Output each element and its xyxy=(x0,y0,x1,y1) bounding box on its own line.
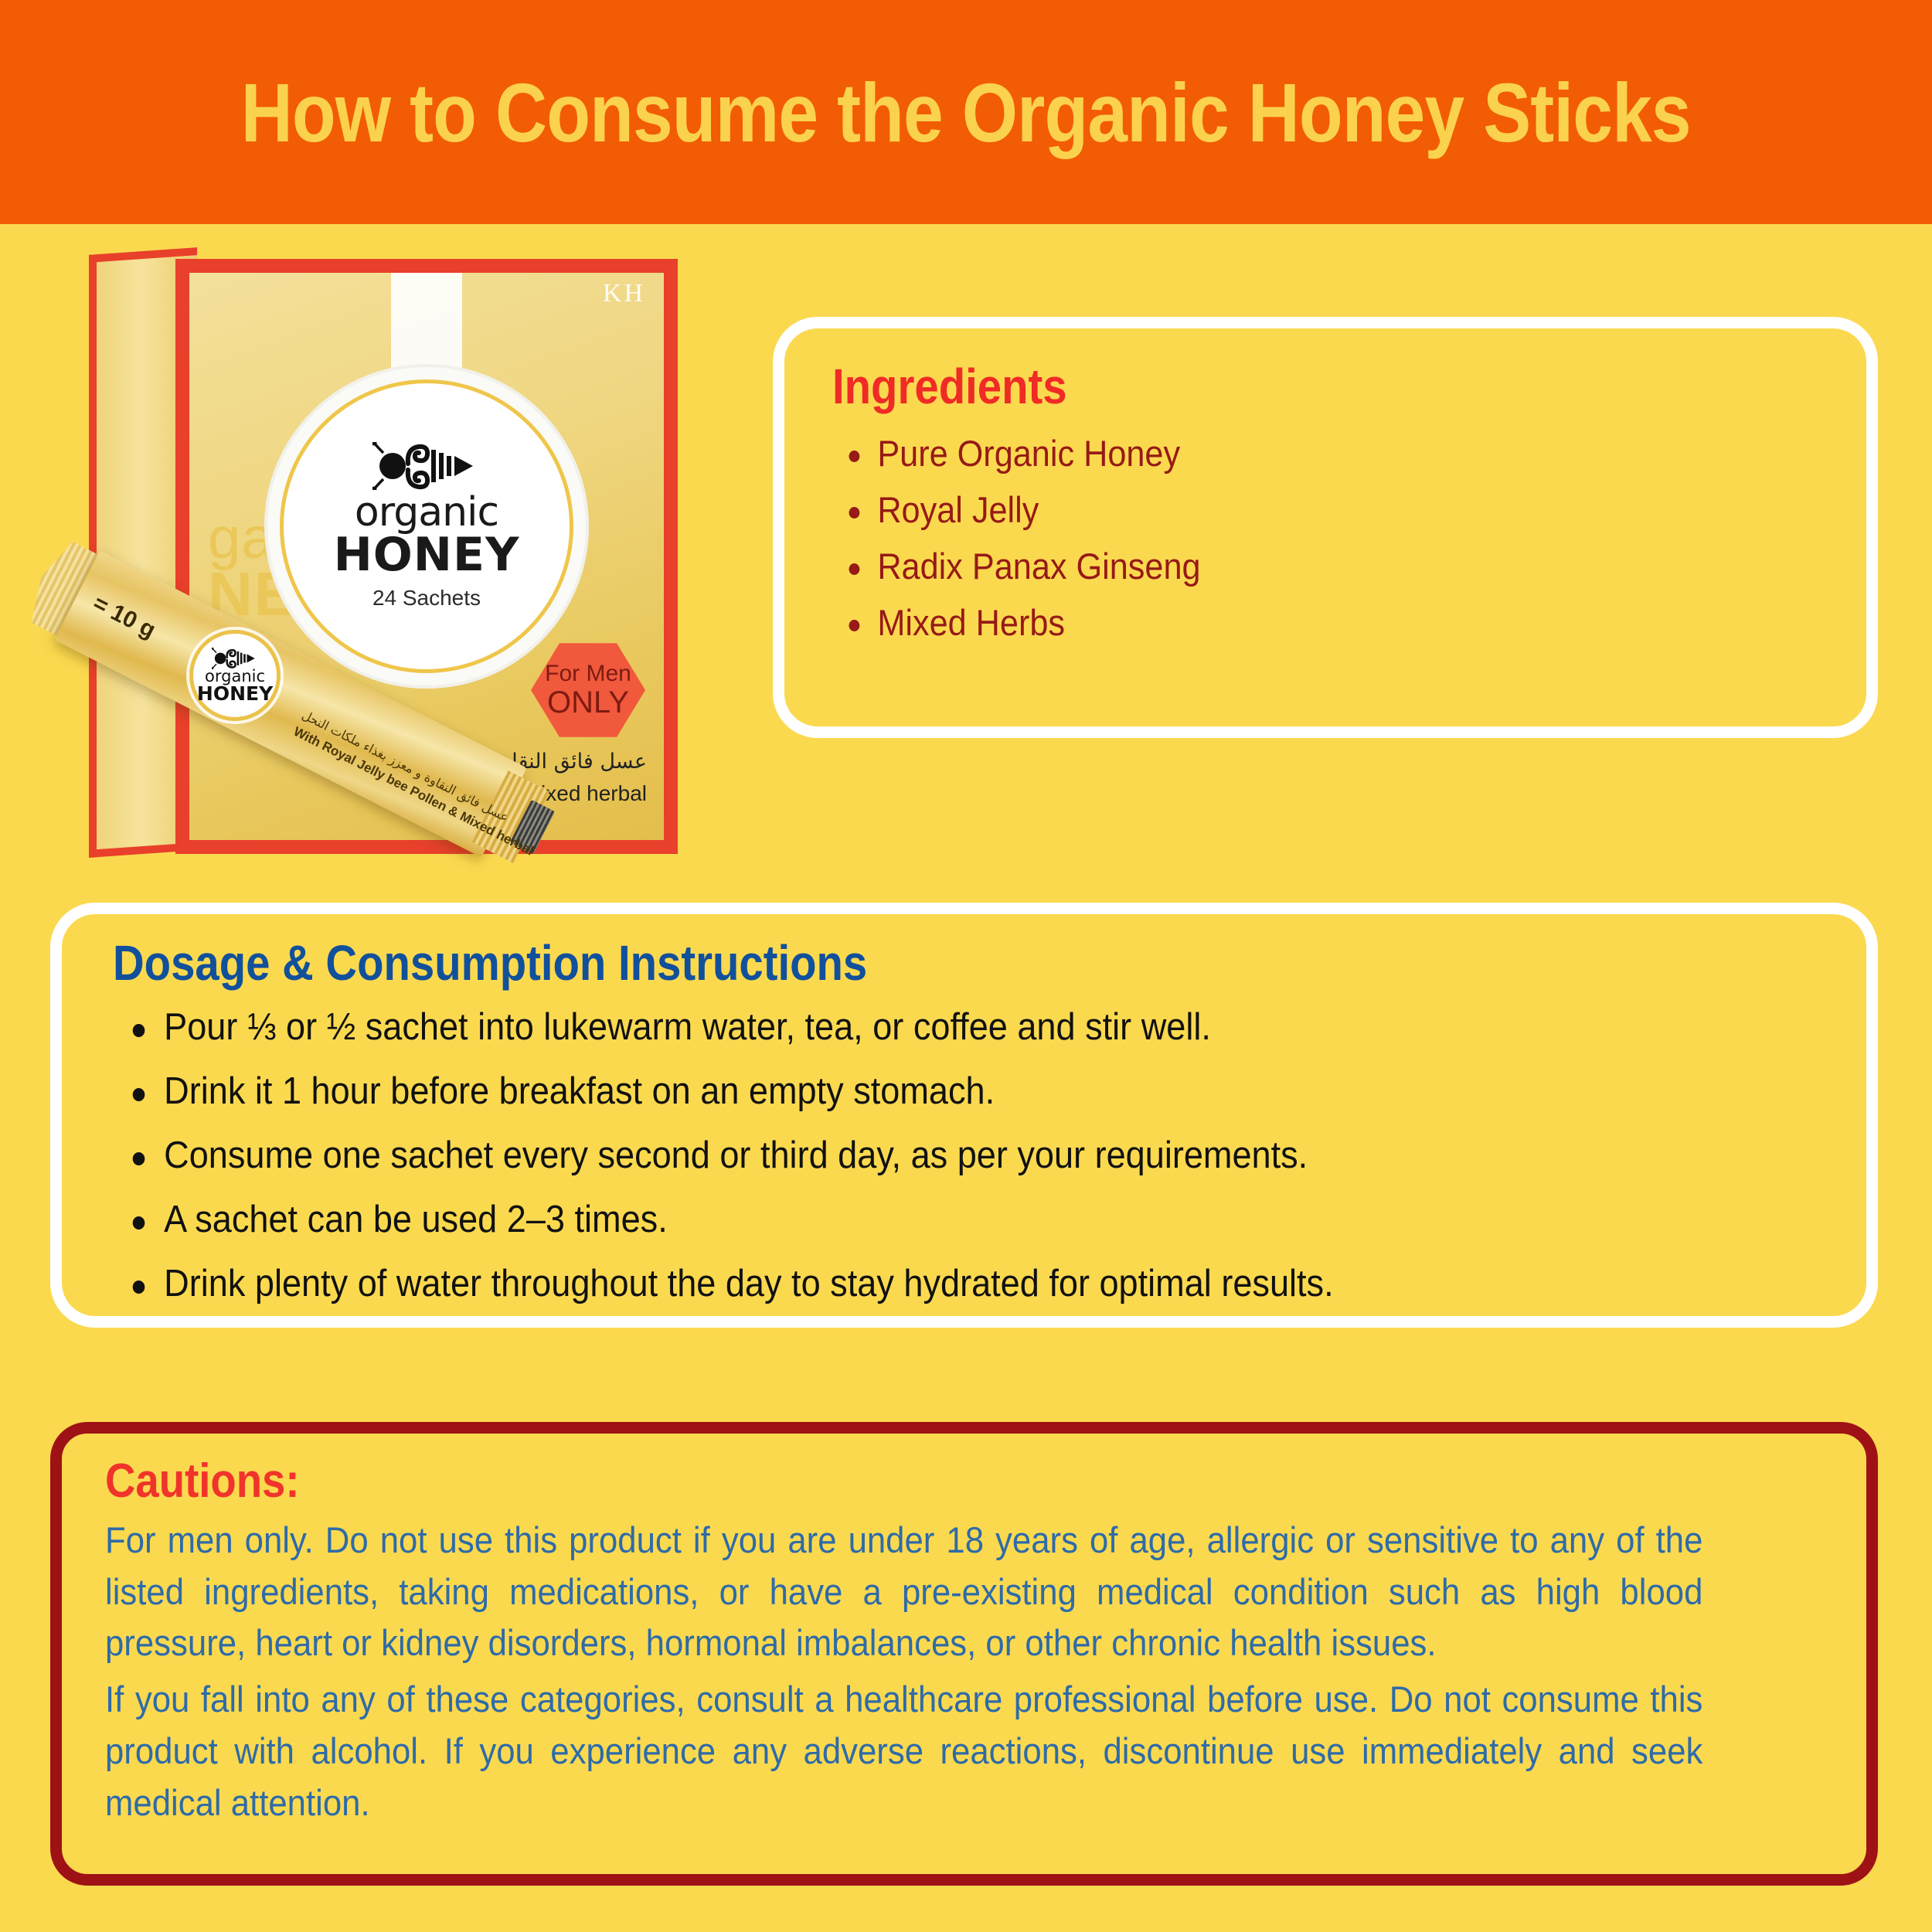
dosage-heading: Dosage & Consumption Instructions xyxy=(113,934,1617,992)
ingredients-panel: Ingredients Pure Organic Honey Royal Jel… xyxy=(773,317,1878,738)
box-brand-honey: HONEY xyxy=(334,532,520,578)
bee-logo-icon xyxy=(372,442,481,490)
page-header: How to Consume the Organic Honey Sticks xyxy=(0,0,1932,224)
list-item: Royal Jelly xyxy=(845,492,1747,528)
dosage-panel: Dosage & Consumption Instructions Pour ⅓… xyxy=(50,903,1878,1328)
badge-line-1: For Men xyxy=(545,662,631,686)
list-item: Mixed Herbs xyxy=(845,604,1747,641)
ingredients-heading: Ingredients xyxy=(832,358,1707,415)
ingredients-list: Pure Organic Honey Royal Jelly Radix Pan… xyxy=(825,435,1826,641)
for-men-only-badge: For Men ONLY xyxy=(531,639,645,741)
list-item: Drink plenty of water throughout the day… xyxy=(130,1265,1688,1303)
cautions-panel: Cautions: For men only. Do not use this … xyxy=(50,1422,1878,1886)
product-photo: ganic NEY KH xyxy=(81,236,753,889)
list-item: Radix Panax Ginseng xyxy=(845,548,1747,584)
dosage-list: Pour ⅓ or ½ sachet into lukewarm water, … xyxy=(105,1009,1823,1303)
list-item: Pure Organic Honey xyxy=(845,435,1747,471)
cautions-paragraph: If you fall into any of these categories… xyxy=(105,1674,1702,1828)
box-brand-organic: organic xyxy=(355,495,498,532)
box-seal-ring: organic HONEY 24 Sachets xyxy=(264,364,589,689)
list-item: A sachet can be used 2–3 times. xyxy=(130,1201,1688,1239)
list-item: Consume one sachet every second or third… xyxy=(130,1137,1688,1175)
box-seal-inner: organic HONEY 24 Sachets xyxy=(300,400,553,653)
list-item: Pour ⅓ or ½ sachet into lukewarm water, … xyxy=(130,1009,1688,1046)
badge-line-2: ONLY xyxy=(547,686,629,719)
cautions-heading: Cautions: xyxy=(105,1454,1617,1509)
infographic-page: How to Consume the Organic Honey Sticks … xyxy=(0,0,1932,1932)
page-title: How to Consume the Organic Honey Sticks xyxy=(241,64,1691,161)
sachet-bee-logo-icon xyxy=(212,647,258,668)
sachet-logo-seal: organic HONEY xyxy=(189,630,281,721)
box-sachet-count: 24 Sachets xyxy=(372,586,481,611)
box-corner-mark: KH xyxy=(603,279,645,308)
cautions-body: For men only. Do not use this product if… xyxy=(105,1515,1823,1828)
list-item: Drink it 1 hour before breakfast on an e… xyxy=(130,1073,1688,1111)
sachet-brand-honey: HONEY xyxy=(197,684,273,703)
cautions-paragraph: For men only. Do not use this product if… xyxy=(105,1515,1702,1669)
